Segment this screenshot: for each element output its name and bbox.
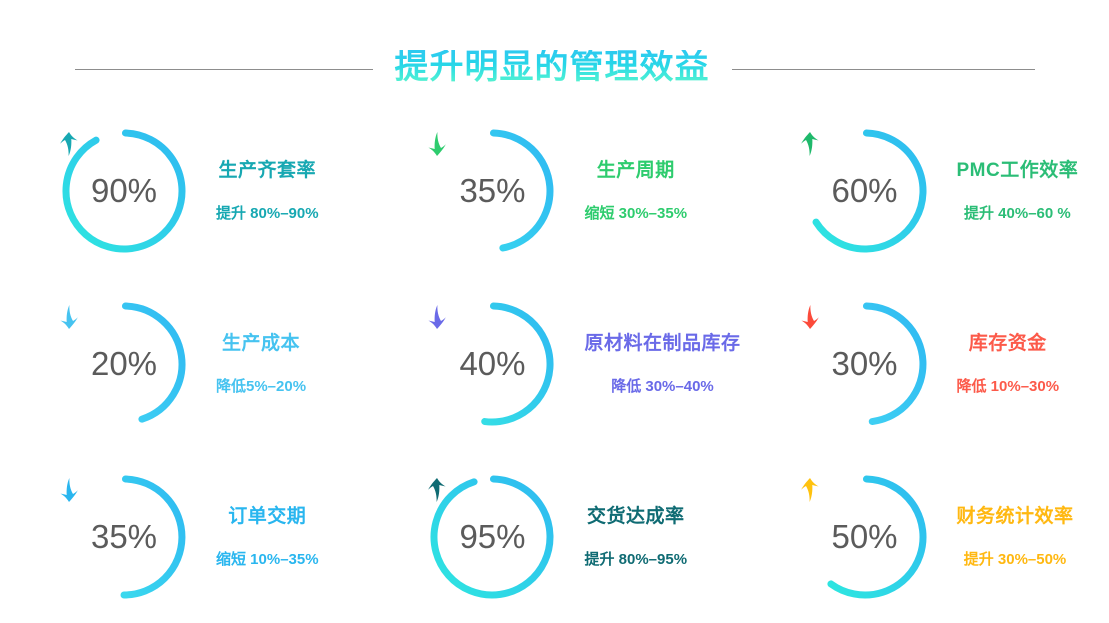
kpi-subtext: 提升 40%–60 % — [964, 206, 1071, 221]
kpi-grid: 90%生产齐套率提升 80%–90%35%生产周期缩短 30%–35%60%PM… — [0, 104, 1109, 623]
kpi-text-block: PMC工作效率提升 40%–60 % — [957, 161, 1079, 221]
progress-ring-arc — [830, 479, 922, 595]
kpi-subtext: 提升 30%–50% — [964, 552, 1067, 567]
progress-ring: 50% — [799, 471, 931, 603]
kpi-label: 库存资金 — [969, 334, 1047, 353]
progress-ring-arc — [125, 306, 182, 419]
header-rule-right — [732, 69, 1035, 70]
progress-ring: 35% — [426, 125, 558, 257]
header-rule-left — [75, 69, 373, 70]
progress-ring-svg — [426, 471, 558, 603]
kpi-card: 50%财务统计效率提升 30%–50% — [741, 450, 1109, 623]
progress-ring-svg — [426, 298, 558, 430]
kpi-card: 35%订单交期缩短 10%–35% — [0, 450, 368, 623]
progress-ring-svg — [58, 125, 190, 257]
kpi-card: 95%交货达成率提升 80%–95% — [368, 450, 740, 623]
progress-ring-svg — [426, 125, 558, 257]
kpi-text-block: 财务统计效率提升 30%–50% — [957, 507, 1074, 567]
progress-ring: 30% — [799, 298, 931, 430]
kpi-subtext: 缩短 10%–35% — [216, 552, 319, 567]
kpi-text-block: 生产齐套率提升 80%–90% — [216, 161, 319, 221]
kpi-card: 35%生产周期缩短 30%–35% — [368, 104, 740, 277]
progress-ring-svg — [799, 471, 931, 603]
kpi-label: 生产成本 — [222, 334, 300, 353]
kpi-subtext: 缩短 30%–35% — [584, 206, 687, 221]
page-title: 提升明显的管理效益 — [391, 50, 714, 88]
kpi-card: 90%生产齐套率提升 80%–90% — [0, 104, 368, 277]
kpi-card: 30%库存资金降低 10%–30% — [741, 277, 1109, 450]
progress-ring-arc — [485, 306, 550, 422]
kpi-text-block: 库存资金降低 10%–30% — [957, 334, 1060, 394]
progress-ring-svg — [799, 125, 931, 257]
kpi-label: 订单交期 — [228, 507, 306, 526]
progress-ring: 35% — [58, 471, 190, 603]
progress-ring: 60% — [799, 125, 931, 257]
kpi-subtext: 降低5%–20% — [216, 379, 306, 394]
kpi-text-block: 生产成本降低5%–20% — [216, 334, 306, 394]
kpi-text-block: 原材料在制品库存降低 30%–40% — [584, 334, 740, 394]
progress-ring-svg — [58, 471, 190, 603]
kpi-card: 20%生产成本降低5%–20% — [0, 277, 368, 450]
kpi-label: PMC工作效率 — [957, 161, 1079, 180]
kpi-label: 生产齐套率 — [219, 161, 317, 180]
kpi-card: 60%PMC工作效率提升 40%–60 % — [741, 104, 1109, 277]
progress-ring-svg — [799, 298, 931, 430]
kpi-text-block: 订单交期缩短 10%–35% — [216, 507, 319, 567]
progress-ring-arc — [866, 306, 923, 422]
kpi-text-block: 生产周期缩短 30%–35% — [584, 161, 687, 221]
progress-ring-arc — [434, 479, 550, 595]
progress-ring-arc — [494, 133, 551, 248]
page-header: 提升明显的管理效益 — [0, 38, 1109, 100]
progress-ring: 90% — [58, 125, 190, 257]
progress-ring-svg — [58, 298, 190, 430]
progress-ring: 95% — [426, 471, 558, 603]
kpi-label: 交货达成率 — [587, 507, 685, 526]
kpi-subtext: 降低 10%–30% — [957, 379, 1060, 394]
kpi-subtext: 提升 80%–90% — [216, 206, 319, 221]
kpi-text-block: 交货达成率提升 80%–95% — [584, 507, 687, 567]
progress-ring: 40% — [426, 298, 558, 430]
kpi-subtext: 降低 30%–40% — [611, 379, 714, 394]
kpi-label: 原材料在制品库存 — [584, 334, 740, 353]
kpi-label: 生产周期 — [597, 161, 675, 180]
progress-ring: 20% — [58, 298, 190, 430]
progress-ring-arc — [124, 479, 182, 595]
kpi-card: 40%原材料在制品库存降低 30%–40% — [368, 277, 740, 450]
kpi-subtext: 提升 80%–95% — [584, 552, 687, 567]
progress-ring-arc — [66, 133, 182, 249]
progress-ring-arc — [816, 133, 923, 249]
kpi-label: 财务统计效率 — [957, 507, 1074, 526]
